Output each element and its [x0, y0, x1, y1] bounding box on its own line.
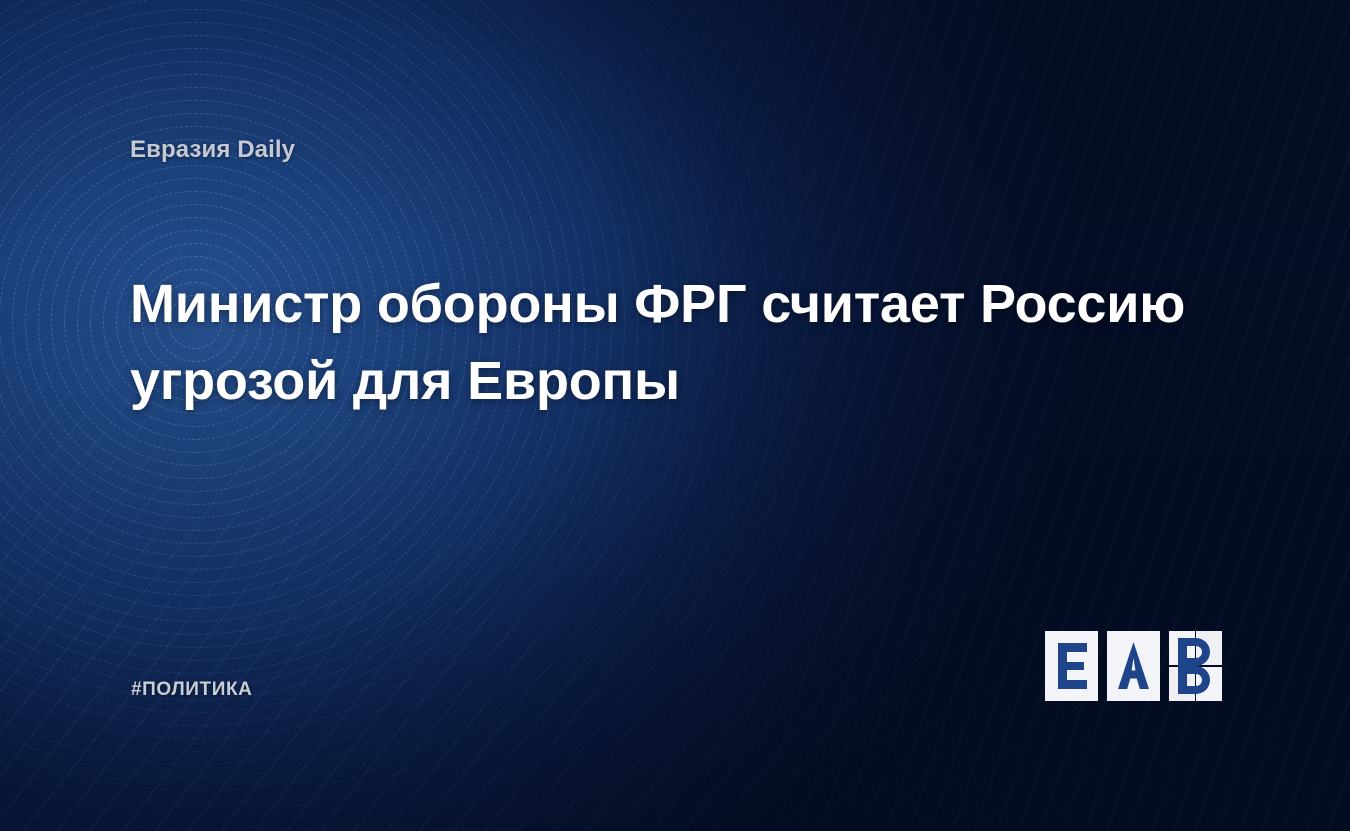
logo-tile-d	[1169, 631, 1222, 701]
category-hashtag[interactable]: #ПОЛИТИКА	[131, 679, 253, 701]
ead-logo[interactable]	[1045, 631, 1223, 701]
logo-tile-e	[1045, 631, 1098, 701]
brand-name[interactable]: Евразия Daily	[130, 136, 295, 164]
page-title: Министр обороны ФРГ считает Россию угроз…	[130, 266, 1220, 420]
card-content: Евразия Daily Министр обороны ФРГ считае…	[0, 0, 1350, 831]
logo-tile-a	[1107, 631, 1160, 701]
news-card: Евразия Daily Министр обороны ФРГ считае…	[0, 0, 1350, 831]
logo-letter-e	[1058, 643, 1087, 689]
